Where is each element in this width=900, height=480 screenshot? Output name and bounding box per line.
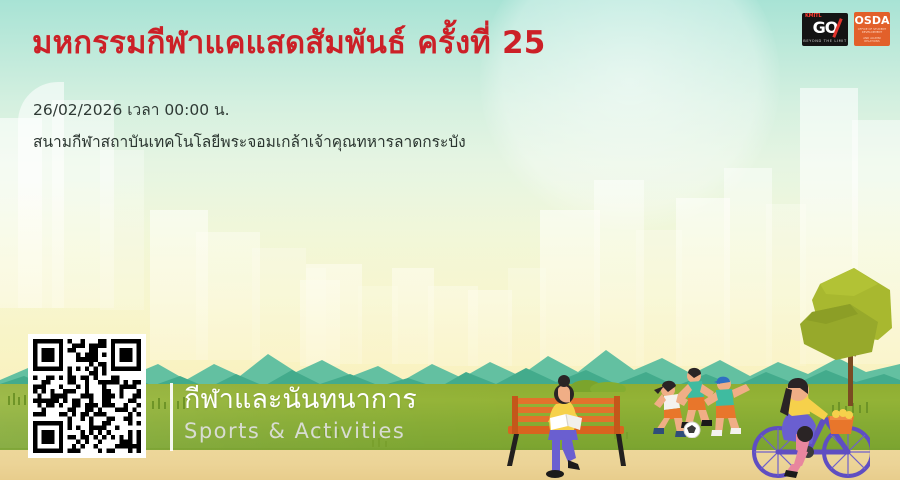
park-bench-with-reader-icon: [498, 374, 632, 480]
event-qr-code[interactable]: [28, 334, 146, 458]
caption-thai: กีฬาและนันทนาการ: [184, 385, 417, 415]
caption-english: Sports & Activities: [184, 419, 417, 444]
osda-subtext-line1: OFFICE OF STUDENT DEVELOPMENT: [856, 28, 888, 34]
osda-logo: OSDA OFFICE OF STUDENT DEVELOPMENT AND A…: [854, 12, 890, 46]
caption-block: กีฬาและนันทนาการ Sports & Activities: [184, 385, 417, 444]
soccer-players-icon: [644, 360, 756, 438]
kmitl-60-logo: KMITL GO BEYOND THE LIMIT: [802, 13, 848, 46]
osda-wordmark: OSDA: [855, 15, 890, 26]
caption-divider: [170, 383, 173, 451]
kmitl-tagline: BEYOND THE LIMIT: [802, 40, 848, 44]
cyclist-woman-icon: [752, 372, 870, 480]
logo-group: KMITL GO BEYOND THE LIMIT OSDA OFFICE OF…: [802, 12, 890, 46]
event-banner: มหกรรมกีฬาแคแสดสัมพันธ์ ครั้งที่ 25 26/0…: [0, 0, 900, 480]
qr-canvas: [33, 339, 141, 453]
event-location: สนามกีฬาสถาบันเทคโนโลยีพระจอมเกล้าเจ้าคุ…: [33, 130, 466, 154]
event-datetime: 26/02/2026 เวลา 00:00 น.: [33, 98, 466, 122]
event-meta: 26/02/2026 เวลา 00:00 น. สนามกีฬาสถาบันเ…: [33, 98, 466, 154]
osda-subtext-line2: AND ALUMNI RELATIONS: [856, 37, 888, 43]
event-title: มหกรรมกีฬาแคแสดสัมพันธ์ ครั้งที่ 25: [32, 26, 545, 62]
